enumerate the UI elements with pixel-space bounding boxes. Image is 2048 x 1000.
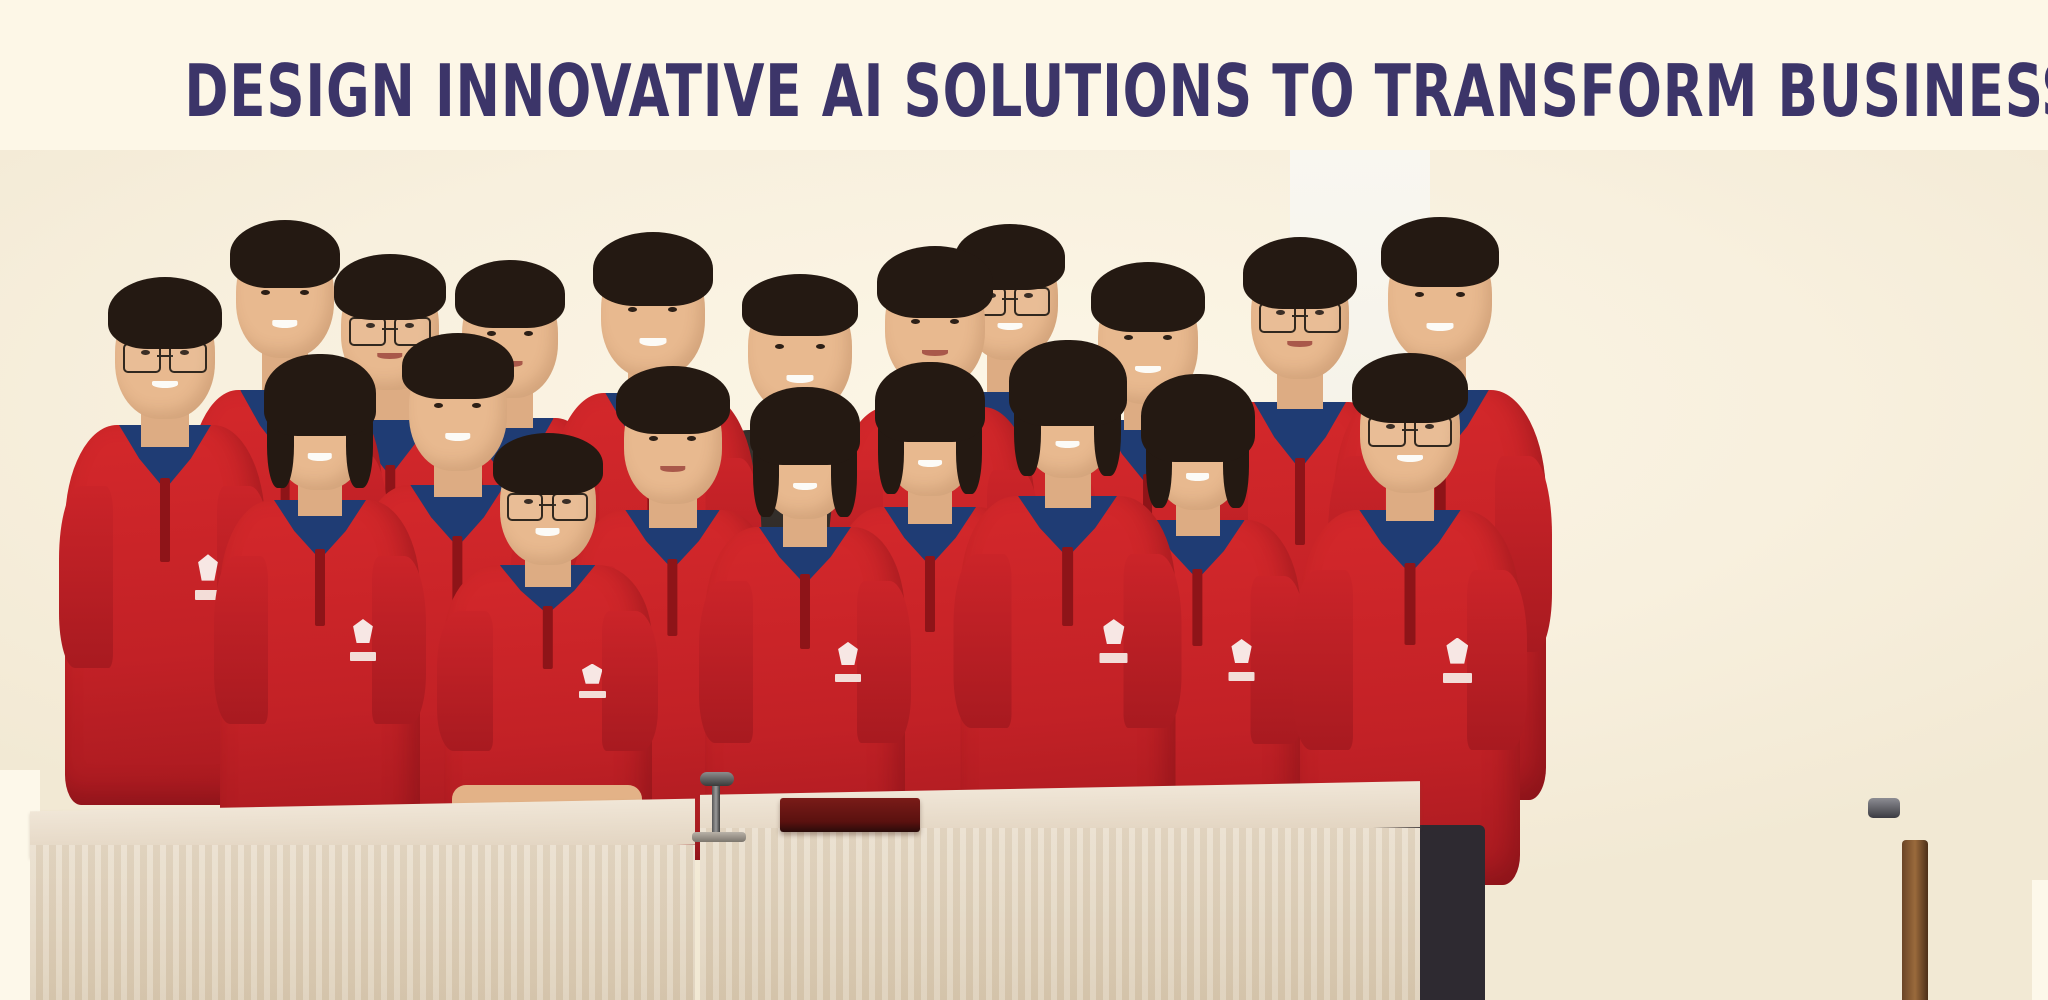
company-logo-icon	[835, 642, 861, 683]
tablecloth-skirt	[700, 828, 1420, 1000]
person-front-3	[440, 415, 655, 855]
hair	[108, 277, 222, 349]
company-logo-icon	[579, 664, 606, 699]
person-front-1	[215, 330, 425, 850]
hero-banner: DESIGN INNOVATIVE AI SOLUTIONS TO TRANSF…	[0, 0, 2048, 1000]
microphone-base	[692, 832, 746, 842]
tablecloth-skirt	[30, 845, 695, 1000]
red-case-on-table	[780, 798, 920, 832]
hair	[593, 232, 713, 306]
team-group-photo	[0, 150, 2048, 1000]
page-title: DESIGN INNOVATIVE AI SOLUTIONS TO TRANSF…	[184, 52, 1863, 130]
chair-leg	[1902, 840, 1928, 1000]
wristwatch	[1868, 798, 1900, 818]
hair	[493, 433, 603, 495]
company-logo-icon	[350, 619, 376, 661]
microphone-head-icon	[700, 772, 734, 786]
glasses-icon	[507, 493, 588, 517]
hair	[750, 387, 860, 465]
company-logo-icon	[1443, 638, 1472, 683]
hair	[877, 246, 993, 318]
table-left	[30, 805, 695, 1000]
hair	[1009, 340, 1127, 426]
company-logo-icon	[1228, 639, 1255, 681]
floor-right-strip	[2032, 880, 2048, 1000]
placket	[160, 478, 170, 562]
person-front-7	[955, 318, 1180, 858]
polo-shirt	[220, 500, 420, 850]
hair	[1381, 217, 1499, 287]
company-logo-icon	[1100, 619, 1128, 662]
hair	[1352, 353, 1468, 423]
hair	[264, 354, 376, 436]
sleeve-left	[59, 486, 113, 668]
